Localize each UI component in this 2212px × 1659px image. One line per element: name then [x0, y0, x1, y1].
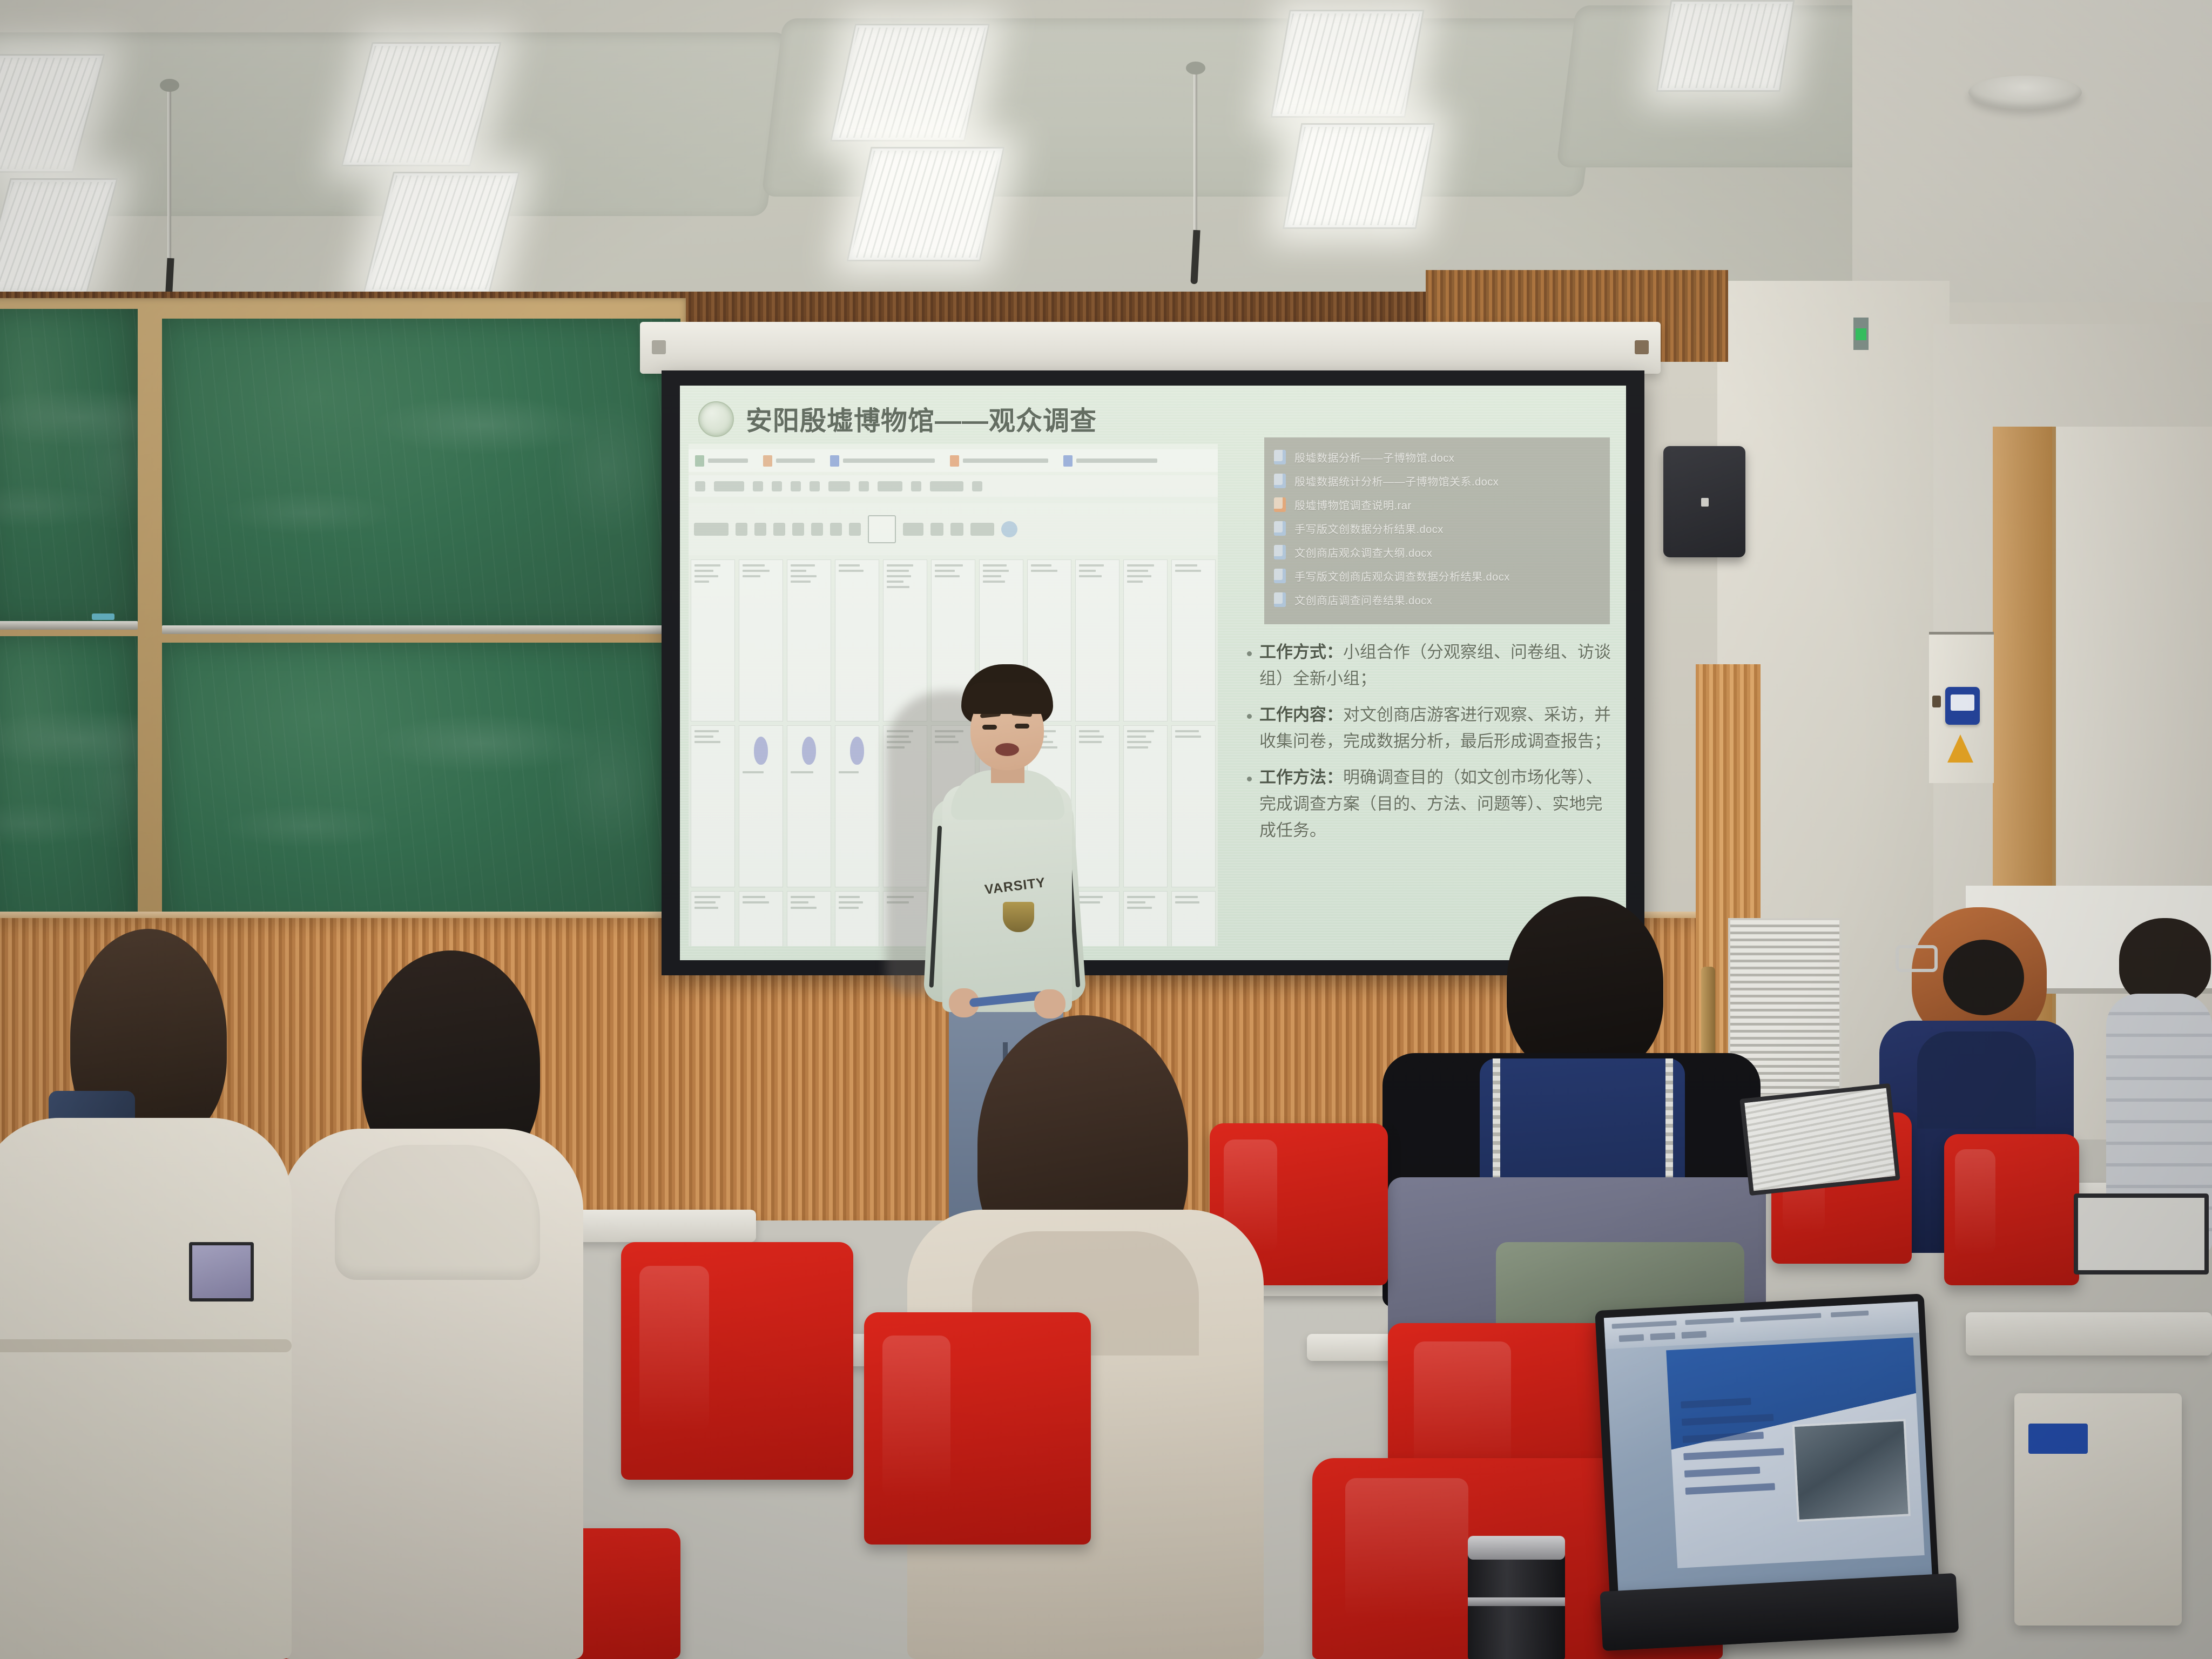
- laptop-slide: [1666, 1337, 1925, 1568]
- blue-sign-icon: [1945, 687, 1980, 725]
- laptop-slide-photo: [1792, 1419, 1911, 1522]
- ribbon-icon[interactable]: [930, 523, 943, 536]
- file-name: 殷墟数据分析——子博物馆.docx: [1294, 449, 1454, 465]
- document-thumbnail[interactable]: [1123, 559, 1168, 721]
- toolbar-icon[interactable]: [772, 481, 782, 491]
- document-thumbnail[interactable]: [835, 725, 879, 887]
- slide-bullet-list: 工作方式：小组合作（分观察组、问卷组、访谈组）全新小组； 工作内容：对文创商店游…: [1247, 639, 1614, 854]
- museum-seal-icon: [698, 401, 734, 437]
- document-thumbnail[interactable]: [787, 559, 831, 721]
- tab-icon: [763, 455, 772, 467]
- document-thumbnail[interactable]: [691, 725, 735, 887]
- ceiling-light-fixture: [830, 24, 990, 141]
- file-list-item[interactable]: 手写版文创商店观众调查数据分析结果.docx: [1274, 564, 1600, 588]
- word-doc-icon: [1274, 521, 1286, 536]
- bullet-text: 工作方式：小组合作（分观察组、问卷组、访谈组）全新小组；: [1259, 639, 1614, 692]
- file-list-item[interactable]: 殷墟数据统计分析——子博物馆关系.docx: [1274, 469, 1600, 493]
- docmgr-tab[interactable]: [695, 455, 748, 467]
- word-doc-icon: [1274, 569, 1286, 583]
- document-thumbnail[interactable]: [739, 559, 783, 721]
- ribbon-icon[interactable]: [694, 523, 729, 536]
- tote-logo-icon: [2028, 1424, 2088, 1454]
- smoke-detector-icon: [1968, 76, 2082, 109]
- classroom-scene: 安阳殷墟博物馆——观众调查: [0, 0, 2212, 1659]
- toolbar-icon[interactable]: [911, 481, 921, 491]
- toolbar-icon[interactable]: [695, 481, 705, 491]
- presenter-right-hand: [1034, 989, 1065, 1019]
- student-hood: [1917, 1031, 2036, 1129]
- presenter-fringe: [963, 683, 1053, 714]
- student-tablet[interactable]: [189, 1242, 254, 1301]
- docmgr-tab[interactable]: [830, 455, 935, 467]
- laptop-lid: [1595, 1293, 1939, 1602]
- toolbar-icon[interactable]: [791, 481, 801, 491]
- toolbar-icon[interactable]: [972, 481, 982, 491]
- student-desk: [572, 1210, 756, 1242]
- toolbar-item[interactable]: [1831, 1311, 1869, 1318]
- slide-bullet: 工作内容：对文创商店游客进行观察、采访，并收集问卷，完成数据分析，最后形成调查报…: [1247, 702, 1614, 755]
- blackboard-panel: [162, 319, 680, 632]
- ceiling-light-fixture: [846, 147, 1004, 261]
- thermos-ring: [1468, 1597, 1565, 1606]
- slide-bullet: 工作方式：小组合作（分观察组、问卷组、访谈组）全新小组；: [1247, 639, 1614, 692]
- powerpoint-icon: [1274, 497, 1286, 512]
- tab-label: [1076, 458, 1157, 463]
- toolbar-item[interactable]: [1650, 1332, 1676, 1340]
- toolbar-icon[interactable]: [753, 481, 763, 491]
- toolbar-icon[interactable]: [859, 481, 869, 491]
- slide-bullet: 工作方法：明确调查目的（如文创市场化等）、完成调查方案（目的、方法、问题等）、实…: [1247, 765, 1614, 844]
- file-list-item[interactable]: 殷墟博物馆调查说明.rar: [1274, 493, 1600, 516]
- toolbar-item[interactable]: [1611, 1320, 1676, 1328]
- wall-hook-icon: [1932, 696, 1941, 707]
- docmgr-toolbar: [689, 475, 1218, 497]
- document-thumbnail[interactable]: [739, 891, 783, 946]
- ribbon-icon[interactable]: [773, 523, 785, 536]
- file-list-item[interactable]: 文创商店调查问卷结果.docx: [1274, 588, 1600, 611]
- ribbon-icon[interactable]: [830, 523, 842, 536]
- ribbon-icon[interactable]: [811, 523, 823, 536]
- file-name: 文创商店调查问卷结果.docx: [1294, 592, 1432, 608]
- document-thumbnail[interactable]: [835, 891, 879, 946]
- student-front-left-2: [281, 950, 583, 1659]
- tab-icon: [1063, 455, 1073, 467]
- file-name: 手写版文创商店观众调查数据分析结果.docx: [1294, 568, 1510, 584]
- ribbon-icon[interactable]: [754, 523, 766, 536]
- document-thumbnail[interactable]: [787, 891, 831, 946]
- student-hair: [1507, 896, 1663, 1075]
- bullet-dot-icon: [1247, 714, 1252, 719]
- housing-bracket: [652, 340, 666, 354]
- bullet-text: 工作方法：明确调查目的（如文创市场化等）、完成调查方案（目的、方法、问题等）、实…: [1259, 765, 1614, 844]
- tab-icon: [695, 455, 704, 467]
- hoodie-shield-icon: [1003, 902, 1034, 932]
- docmgr-tab-bar: [689, 449, 1218, 472]
- document-thumbnail[interactable]: [835, 559, 879, 721]
- file-name: 文创商店观众调查大纲.docx: [1294, 544, 1432, 560]
- ribbon-icon[interactable]: [970, 523, 994, 536]
- ribbon-icon[interactable]: [849, 523, 861, 536]
- bullet-label: 工作方法：: [1259, 768, 1343, 787]
- docmgr-ribbon: [689, 503, 1218, 555]
- file-list-item[interactable]: 文创商店观众调查大纲.docx: [1274, 540, 1600, 564]
- tab-icon: [830, 455, 839, 467]
- toolbar-item[interactable]: [1681, 1331, 1707, 1338]
- speaker-led-icon: [1701, 498, 1709, 507]
- ceiling-light-fixture: [1283, 123, 1435, 229]
- ceiling-light-fixture: [1270, 10, 1424, 118]
- student-desk: [1966, 1312, 2212, 1355]
- document-thumbnail[interactable]: [739, 725, 783, 887]
- ribbon-preview-icon[interactable]: [868, 515, 896, 543]
- ceiling-hanger-rod: [1193, 70, 1197, 232]
- tab-label: [963, 458, 1048, 463]
- document-thumbnail[interactable]: [1123, 725, 1168, 887]
- word-doc-icon: [1274, 450, 1286, 464]
- student-hood: [335, 1145, 540, 1280]
- chalk-ledge: [0, 621, 138, 630]
- docmgr-tab[interactable]: [950, 455, 1048, 467]
- ribbon-icon[interactable]: [903, 523, 923, 536]
- presentation-slide: 安阳殷墟博物馆——观众调查: [680, 386, 1626, 960]
- blackboard-panel: [0, 636, 138, 939]
- file-name: 殷墟数据统计分析——子博物馆关系.docx: [1294, 473, 1499, 489]
- tab-icon: [950, 455, 959, 467]
- toolbar-item[interactable]: [1740, 1313, 1821, 1322]
- tab-label: [708, 458, 748, 463]
- rod-knob-icon: [160, 79, 179, 92]
- bullet-text: 工作内容：对文创商店游客进行观察、采访，并收集问卷，完成数据分析，最后形成调查报…: [1259, 702, 1614, 755]
- wall-speaker-icon: [1663, 446, 1745, 557]
- ceiling-light-fixture: [1656, 0, 1795, 92]
- docmgr-tab[interactable]: [1063, 455, 1157, 467]
- student-laptop[interactable]: [2074, 1193, 2209, 1274]
- file-list-panel: 殷墟数据分析——子博物馆.docx 殷墟数据统计分析——子博物馆关系.docx …: [1264, 437, 1610, 624]
- slide-title-row: 安阳殷墟博物馆——观众调查: [698, 400, 1097, 438]
- document-thumbnail[interactable]: [1171, 891, 1216, 946]
- slide-title: 安阳殷墟博物馆——观众调查: [746, 400, 1097, 438]
- document-thumbnail[interactable]: [1171, 725, 1216, 887]
- word-doc-icon: [1274, 592, 1286, 607]
- document-thumbnail[interactable]: [1171, 559, 1216, 721]
- rod-knob-icon: [1186, 62, 1205, 75]
- file-list-item[interactable]: 手写版文创数据分析结果.docx: [1274, 516, 1600, 540]
- student-puffer-jacket: [0, 1118, 292, 1659]
- blackboard-panel: [162, 643, 680, 939]
- toolbar-icon[interactable]: [714, 481, 744, 491]
- ribbon-avatar-icon[interactable]: [1001, 521, 1017, 537]
- ribbon-icon[interactable]: [950, 523, 963, 536]
- tab-label: [843, 458, 935, 463]
- student-laptop[interactable]: [1739, 1083, 1900, 1196]
- student-hair: [2119, 918, 2211, 1004]
- file-name: 手写版文创数据分析结果.docx: [1294, 521, 1444, 536]
- toolbar-icon[interactable]: [810, 481, 820, 491]
- glasses-icon: [1896, 945, 1938, 972]
- foreground-laptop[interactable]: [1595, 1293, 1959, 1659]
- classroom-chair[interactable]: [864, 1312, 1091, 1545]
- toolbar-icon[interactable]: [930, 481, 963, 491]
- classroom-chair[interactable]: [621, 1242, 853, 1480]
- projector-screen[interactable]: 安阳殷墟博物馆——观众调查: [662, 370, 1644, 975]
- orange-cone-icon: [1947, 734, 1973, 763]
- bullet-dot-icon: [1247, 777, 1252, 781]
- housing-bracket: [1635, 340, 1649, 354]
- docmgr-tab[interactable]: [763, 455, 815, 467]
- word-doc-icon: [1274, 474, 1286, 488]
- document-thumbnail[interactable]: [787, 725, 831, 887]
- exit-indicator-icon: [1853, 318, 1869, 350]
- document-thumbnail[interactable]: [691, 559, 735, 721]
- file-name: 殷墟博物馆调查说明.rar: [1294, 497, 1412, 512]
- hoodie-graphic: VARSITY: [984, 878, 1054, 934]
- document-thumbnail[interactable]: [691, 891, 735, 946]
- ceiling-hanger-rod: [167, 87, 171, 260]
- hair-bun-icon: [1943, 940, 2024, 1015]
- presenter-mouth: [995, 743, 1019, 756]
- toolbar-item[interactable]: [1685, 1318, 1734, 1325]
- black-thermos: [1468, 1546, 1565, 1659]
- word-doc-icon: [1274, 545, 1286, 559]
- ribbon-icon[interactable]: [736, 523, 747, 536]
- bullet-label: 工作内容：: [1259, 705, 1343, 724]
- toolbar-item[interactable]: [1619, 1334, 1644, 1342]
- bullet-dot-icon: [1247, 651, 1252, 656]
- chalk-stick: [92, 613, 114, 620]
- bullet-label: 工作方式：: [1259, 643, 1343, 662]
- puffer-seam: [0, 1339, 292, 1352]
- document-thumbnail[interactable]: [1123, 891, 1168, 946]
- classroom-chair[interactable]: [1944, 1134, 2079, 1285]
- projector-screen-housing: [640, 322, 1661, 374]
- chalk-ledge: [162, 625, 680, 634]
- laptop-screen[interactable]: [1604, 1301, 1932, 1595]
- thermos-cap: [1468, 1536, 1565, 1560]
- canvas-tote-bag: [2014, 1393, 2182, 1626]
- file-list-item[interactable]: 殷墟数据分析——子博物馆.docx: [1274, 445, 1600, 469]
- rod-tip: [1190, 230, 1200, 285]
- ribbon-icon[interactable]: [792, 523, 804, 536]
- ceiling-light-fixture: [0, 178, 118, 294]
- toolbar-icon[interactable]: [878, 481, 902, 491]
- hoodie-text: VARSITY: [984, 874, 1055, 898]
- toolbar-icon[interactable]: [828, 481, 850, 491]
- blackboard-panel: [0, 309, 138, 628]
- tab-label: [776, 458, 815, 463]
